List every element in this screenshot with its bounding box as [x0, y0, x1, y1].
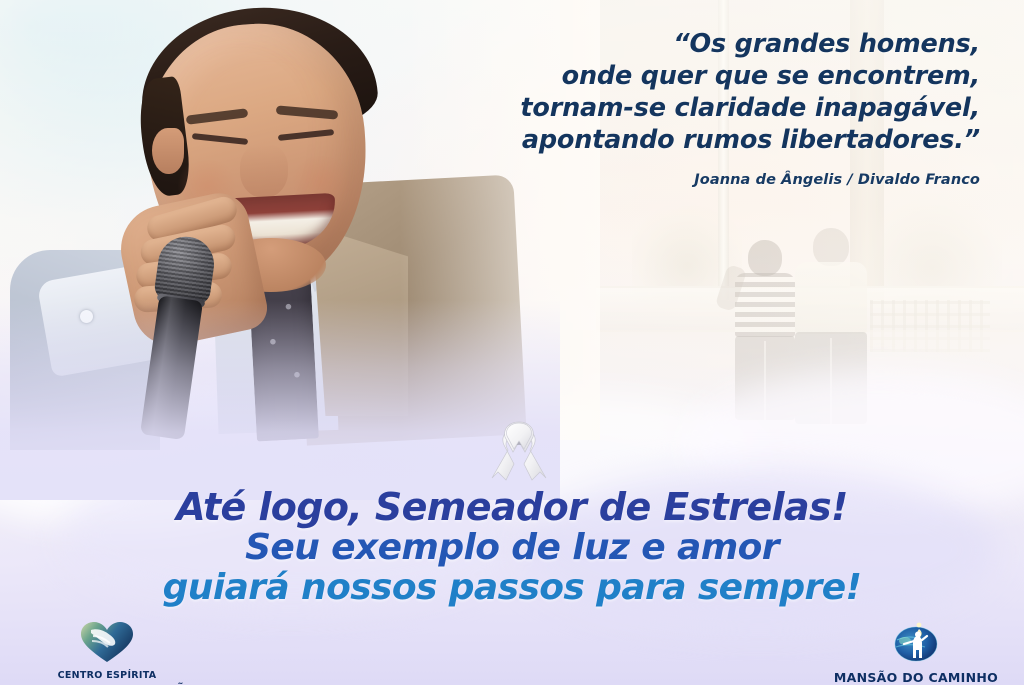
- quote-text: “Os grandes homens, onde quer que se enc…: [380, 28, 980, 156]
- logo-mansao-do-caminho[interactable]: MANSÃO DO CAMINHO: [816, 616, 1016, 685]
- quote-attribution: Joanna de Ângelis / Divaldo Franco: [380, 172, 980, 188]
- headline: Até logo, Semeador de Estrelas! Seu exem…: [0, 486, 1024, 608]
- heart-hand-icon: [12, 620, 202, 668]
- globe-figure-torch-icon: [816, 616, 1016, 668]
- quote-line-2: onde quer que se encontrem,: [380, 60, 980, 92]
- headline-line-1: Até logo, Semeador de Estrelas!: [0, 486, 1024, 528]
- logo-centro-espirita[interactable]: CENTRO ESPÍRITA CAMINHO DA REDENÇÃO: [12, 620, 202, 685]
- ear: [152, 128, 184, 174]
- headline-line-3: guiará nossos passos para sempre!: [0, 568, 1024, 608]
- white-ribbon-icon: [486, 412, 552, 486]
- logo-left-line-1: CENTRO ESPÍRITA: [12, 670, 202, 682]
- quote-line-3: tornam-se claridade inapagável,: [380, 92, 980, 124]
- memorial-poster: “Os grandes homens, onde quer que se enc…: [0, 0, 1024, 685]
- quote-line-4: apontando rumos libertadores.”: [380, 124, 980, 156]
- logo-right-line-1: MANSÃO DO CAMINHO: [816, 670, 1016, 685]
- portrait-bottom-fade: [0, 300, 560, 500]
- headline-line-2: Seu exemplo de luz e amor: [0, 528, 1024, 568]
- quote-line-1: “Os grandes homens,: [380, 28, 980, 60]
- nose: [240, 144, 288, 198]
